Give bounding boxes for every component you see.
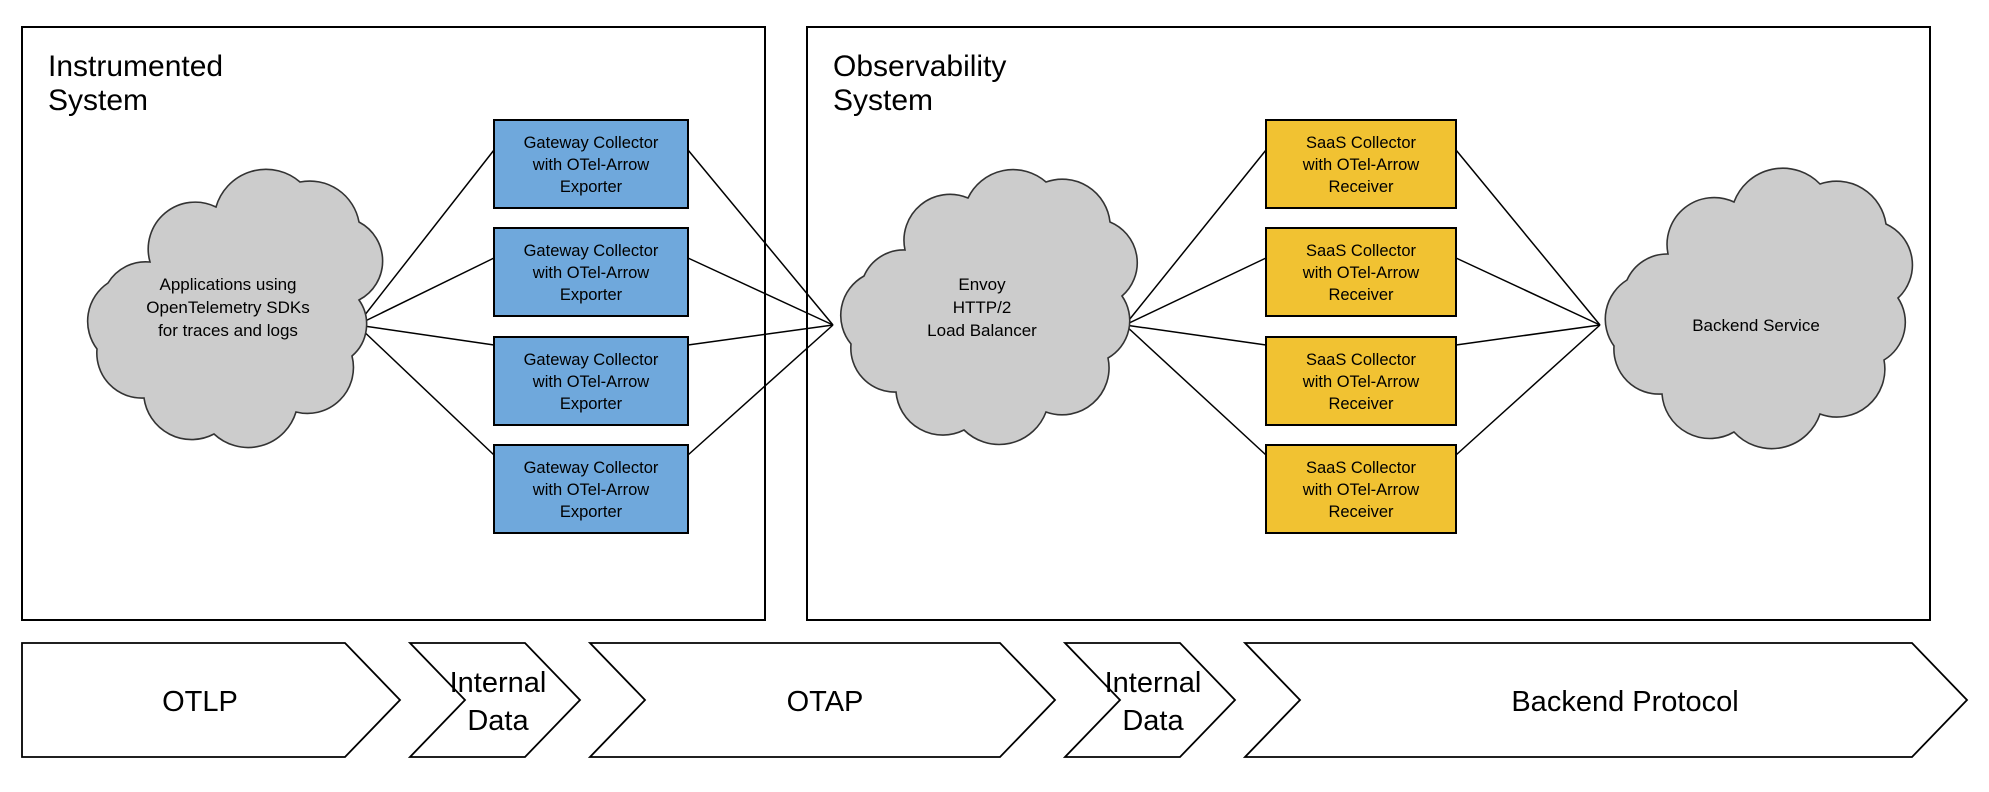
- protocol-chevron-otap[interactable]: OTAP: [590, 643, 1055, 757]
- protocol-chevron-internal-data-1-shape[interactable]: [410, 643, 580, 757]
- panel-instrumented-title-line1: Instrumented: [48, 50, 223, 83]
- saas-collector-3-line3: Receiver: [1328, 395, 1394, 413]
- cloud-envoy-line2: HTTP/2: [953, 298, 1012, 317]
- gateway-collector-1-line1: Gateway Collector: [524, 134, 659, 152]
- gateway-collector-4-line1: Gateway Collector: [524, 459, 659, 477]
- panel-observability-title-line1: Observability: [833, 50, 1006, 83]
- cloud-envoy-line1: Envoy: [958, 275, 1006, 294]
- gateway-collector-3-line1: Gateway Collector: [524, 351, 659, 369]
- saas-collector-1-line1: SaaS Collector: [1306, 134, 1417, 152]
- gateway-collector-1-line3: Exporter: [560, 178, 623, 196]
- protocol-banner: OTLP Internal Data OTAP Internal Data Ba…: [22, 643, 1967, 757]
- saas-collector-3-line1: SaaS Collector: [1306, 351, 1417, 369]
- gateway-collector-1[interactable]: Gateway Collector with OTel-Arrow Export…: [494, 120, 688, 208]
- saas-collector-2-line2: with OTel-Arrow: [1302, 264, 1420, 282]
- protocol-chevron-internal-data-1-line2: Data: [467, 705, 529, 737]
- saas-collector-1-line3: Receiver: [1328, 178, 1394, 196]
- gateway-collector-1-line2: with OTel-Arrow: [532, 156, 650, 174]
- gateway-collector-3[interactable]: Gateway Collector with OTel-Arrow Export…: [494, 337, 688, 425]
- saas-collector-4-line2: with OTel-Arrow: [1302, 481, 1420, 499]
- saas-collector-2[interactable]: SaaS Collector with OTel-Arrow Receiver: [1266, 228, 1456, 316]
- saas-collector-3-line2: with OTel-Arrow: [1302, 373, 1420, 391]
- saas-collector-4-line3: Receiver: [1328, 503, 1394, 521]
- protocol-chevron-internal-data-1-line1: Internal: [450, 667, 547, 699]
- protocol-chevron-internal-data-2-line2: Data: [1122, 705, 1184, 737]
- gateway-collector-3-line3: Exporter: [560, 395, 623, 413]
- saas-collector-4[interactable]: SaaS Collector with OTel-Arrow Receiver: [1266, 445, 1456, 533]
- gateway-collector-2-line2: with OTel-Arrow: [532, 264, 650, 282]
- saas-collector-2-line3: Receiver: [1328, 286, 1394, 304]
- protocol-chevron-backend-protocol[interactable]: Backend Protocol: [1245, 643, 1967, 757]
- protocol-chevron-internal-data-2[interactable]: Internal Data: [1065, 643, 1235, 757]
- saas-collector-1-line2: with OTel-Arrow: [1302, 156, 1420, 174]
- panel-observability-title-line2: System: [833, 84, 933, 117]
- cloud-applications-line1: Applications using: [159, 275, 296, 294]
- gateway-collector-4-line2: with OTel-Arrow: [532, 481, 650, 499]
- protocol-chevron-internal-data-2-shape[interactable]: [1065, 643, 1235, 757]
- protocol-chevron-otlp[interactable]: OTLP: [22, 643, 400, 757]
- gateway-collector-2-line3: Exporter: [560, 286, 623, 304]
- protocol-chevron-internal-data-1[interactable]: Internal Data: [410, 643, 580, 757]
- cloud-envoy-line3: Load Balancer: [927, 321, 1037, 340]
- architecture-diagram: Instrumented System Observability System…: [0, 0, 1989, 792]
- gateway-collector-2-line1: Gateway Collector: [524, 242, 659, 260]
- cloud-backend-line1: Backend Service: [1692, 316, 1820, 335]
- saas-collector-1[interactable]: SaaS Collector with OTel-Arrow Receiver: [1266, 120, 1456, 208]
- panel-instrumented-title-line2: System: [48, 84, 148, 117]
- diagram-canvas: Instrumented System Observability System…: [0, 0, 1989, 792]
- protocol-chevron-internal-data-2-line1: Internal: [1105, 667, 1202, 699]
- gateway-collector-2[interactable]: Gateway Collector with OTel-Arrow Export…: [494, 228, 688, 316]
- saas-collector-2-line1: SaaS Collector: [1306, 242, 1417, 260]
- cloud-applications-line3: for traces and logs: [158, 321, 298, 340]
- cloud-applications-line2: OpenTelemetry SDKs: [146, 298, 309, 317]
- saas-collector-4-line1: SaaS Collector: [1306, 459, 1417, 477]
- saas-collector-3[interactable]: SaaS Collector with OTel-Arrow Receiver: [1266, 337, 1456, 425]
- gateway-collector-4[interactable]: Gateway Collector with OTel-Arrow Export…: [494, 445, 688, 533]
- gateway-collector-4-line3: Exporter: [560, 503, 623, 521]
- gateway-collector-3-line2: with OTel-Arrow: [532, 373, 650, 391]
- protocol-chevron-backend-protocol-label: Backend Protocol: [1511, 686, 1738, 718]
- protocol-chevron-otap-label: OTAP: [787, 686, 864, 718]
- protocol-chevron-otlp-label: OTLP: [162, 686, 238, 718]
